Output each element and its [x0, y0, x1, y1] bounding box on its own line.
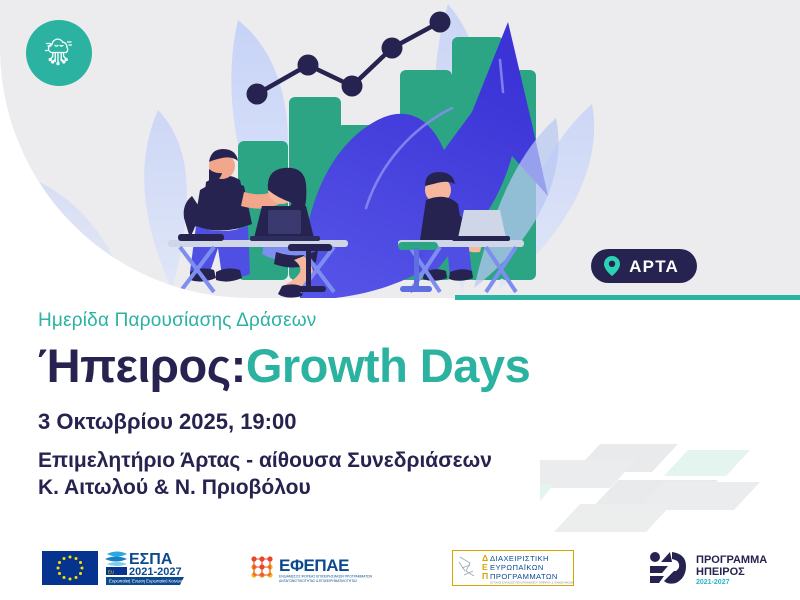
- location-badge[interactable]: ΑΡΤΑ: [591, 249, 697, 283]
- prog-years: 2021-2027: [696, 579, 730, 586]
- ipeiros-glyph: [650, 552, 686, 584]
- diax-line-3: ΠΡΟΓΡΑΜΜΑΤΩΝ: [490, 572, 558, 581]
- diax-tagline: ΔΥΤΙΚΗΣ ΕΛΛΑΔΟΣ ΠΕΛΟΠΟΝΝΗΣΟΥ ΗΠΕΙΡΟΥ & Ι…: [490, 581, 574, 585]
- espa-years: 2021-2027: [129, 566, 182, 578]
- headline-greek: Ήπειρος:: [38, 339, 246, 392]
- event-datetime: 3 Οκτωβρίου 2025, 19:00: [38, 409, 758, 435]
- event-venue: Επιμελητήριο Άρτας - αίθουσα Συνεδριάσεω…: [38, 447, 758, 502]
- hero-divider-rule: [455, 295, 800, 300]
- programma-ipeiros-logo: ΠΡΟΓΡΑΜΜΑ ΗΠΕΙΡΟΣ 2021-2027: [648, 548, 772, 588]
- event-poster: ΑΡΤΑ Ημερίδα Παρουσίασης Δράσεων Ήπειρος…: [0, 0, 800, 600]
- efepae-title: ΕΦΕΠΑΕ: [279, 556, 349, 575]
- espa-logo: ΕΣΠΑ EU 2021-2027 Ευρωπαϊκή Ένωση Ευρωπα…: [42, 548, 189, 588]
- headline-english: Growth Days: [246, 339, 530, 392]
- venue-line-1: Επιμελητήριο Άρτας - αίθουσα Συνεδριάσεω…: [38, 447, 758, 475]
- diaxeiristiki-mark: ΔΙΑΧΕΙΡΙΣΤΙΚΗ ΕΥΡΩΠΑΪΚΩΝ ΠΡΟΓΡΑΜΜΑΤΩΝ ΔΕ…: [452, 548, 574, 588]
- svg-text:EU: EU: [108, 570, 114, 575]
- espa-tagline: Ευρωπαϊκή Ένωση Ευρωπαϊκό Κοινωνικό Ταμε…: [109, 579, 189, 584]
- diax-line-1: ΔΙΑΧΕΙΡΙΣΤΙΚΗ: [490, 554, 549, 563]
- efepae-dot-grid: [251, 556, 272, 577]
- page-title: Ήπειρος:Growth Days: [38, 341, 758, 392]
- efepae-subtitle-1: ΕΝΔΙΑΜΕΣΟΣ ΦΟΡΕΑΣ ΕΠΙΧΕΙΡΗΣΙΑΚΩΝ ΠΡΟΓΡΑΜ…: [279, 575, 373, 579]
- venue-line-2: Κ. Αιτωλού & Ν. Πριοβόλου: [38, 474, 758, 502]
- poster-content: Ημερίδα Παρουσίασης Δράσεων Ήπειρος:Grow…: [38, 310, 758, 502]
- event-kicker: Ημερίδα Παρουσίασης Δράσεων: [38, 310, 758, 332]
- svg-text:Π: Π: [482, 571, 488, 581]
- hero-panel: ΑΡΤΑ: [0, 0, 800, 298]
- location-pin-icon: [604, 256, 620, 276]
- diax-line-2: ΕΥΡΩΠΑΪΚΩΝ: [490, 563, 544, 572]
- diaxeiristiki-logo: ΔΙΑΧΕΙΡΙΣΤΙΚΗ ΕΥΡΩΠΑΪΚΩΝ ΠΡΟΓΡΑΜΜΑΤΩΝ ΔΕ…: [452, 548, 574, 588]
- location-badge-label: ΑΡΤΑ: [629, 258, 679, 275]
- programma-ipeiros-mark: ΠΡΟΓΡΑΜΜΑ ΗΠΕΙΡΟΣ 2021-2027: [648, 548, 772, 588]
- cloud-circuit-icon: [39, 33, 79, 73]
- european-union-flag: [42, 549, 98, 587]
- efepae-mark: ΕΦΕΠΑΕ ΕΝΔΙΑΜΕΣΟΣ ΦΟΡΕΑΣ ΕΠΙΧΕΙΡΗΣΙΑΚΩΝ …: [248, 548, 376, 588]
- efepae-logo: ΕΦΕΠΑΕ ΕΝΔΙΑΜΕΣΟΣ ΦΟΡΕΑΣ ΕΠΙΧΕΙΡΗΣΙΑΚΩΝ …: [248, 548, 376, 588]
- espa-wordmark: ΕΣΠΑ EU 2021-2027 Ευρωπαϊκή Ένωση Ευρωπα…: [105, 548, 189, 588]
- footer-logos: ΕΣΠΑ EU 2021-2027 Ευρωπαϊκή Ένωση Ευρωπα…: [0, 540, 800, 600]
- prog-line-2: ΗΠΕΙΡΟΣ: [696, 566, 745, 578]
- keyboard-left: [178, 234, 224, 241]
- prog-line-1: ΠΡΟΓΡΑΜΜΑ: [696, 554, 767, 566]
- efepae-subtitle-2: ΑΝΤΑΓΩΝΙΣΤΙΚΟΤΗΤΑΣ & ΕΠΙΧΕΙΡΗΜΑΤΙΚΟΤΗΤΑΣ: [279, 579, 357, 583]
- hero-illustration-wrap: ΑΡΤΑ: [0, 0, 800, 298]
- brand-logo-badge: [26, 20, 92, 86]
